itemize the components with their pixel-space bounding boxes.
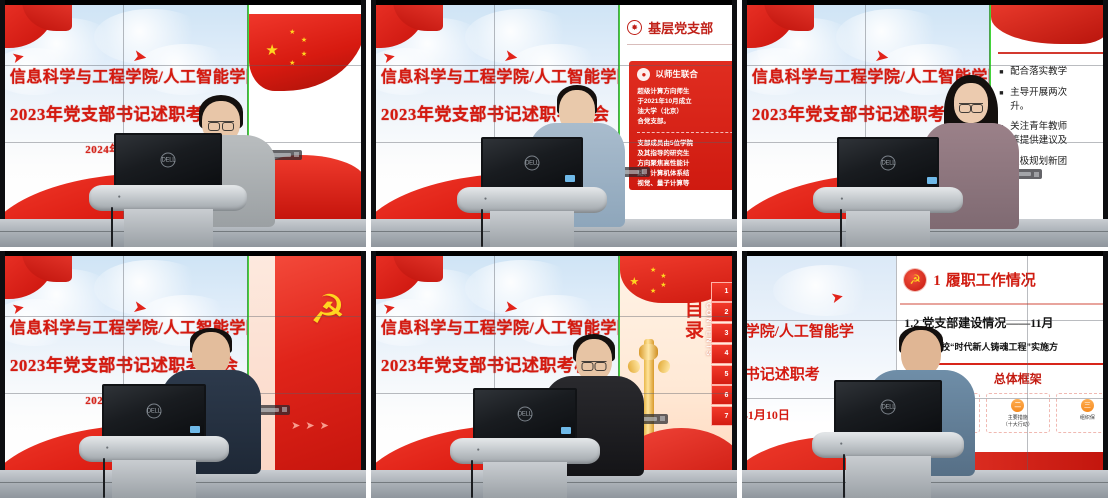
card-paragraph-2: 支部成员由5位学院 及其指导的研究生 方向聚焦高性能计 路、计算机体系结 视觉、… <box>637 139 737 189</box>
photo-panel-3: ➤ 信息科学与工程学院/人工智能学院 2023年党支部书记述职考核会 <box>742 0 1108 247</box>
section-title: 履职工作情况 <box>946 273 1036 289</box>
photo-panel-6: ➤ 程学院/人工智能学 部书记述职考 年1月10日 ☭ 1履职工作情况 <box>742 251 1108 498</box>
handshake-icon: ● <box>637 68 650 81</box>
sticky-note <box>565 175 575 182</box>
dell-logo-icon: DELL <box>161 153 176 168</box>
box-number: 三 <box>1081 399 1094 412</box>
slide-header: 基层党支部 <box>648 18 713 37</box>
glasses <box>582 361 607 368</box>
dell-logo-icon: DELL <box>146 404 161 419</box>
framework-box: 三 组织保 <box>1056 393 1108 433</box>
dell-logo-icon: DELL <box>881 156 896 171</box>
party-seal-icon: ✸ <box>627 20 642 35</box>
flag-stars: ★ ★★ ★★ <box>629 267 676 297</box>
photo-panel-2: ➤ ➤ 信息科学与工程学院/人工智能学院 2023年党支部书记述职考核会 ✸ 基… <box>371 0 737 247</box>
lectern-brand: ● <box>118 194 122 200</box>
section-heading: 1履职工作情况 <box>933 269 1036 290</box>
section-number: 1 <box>933 273 941 289</box>
framework-box: 二 主要措施 （十大行动） <box>986 393 1050 433</box>
photo-panel-1: ➤ ➤ 信息科学与工程学院/人工智能学院 2023年党支部书记述职考核会 202… <box>0 0 366 247</box>
close-icon[interactable] <box>282 407 287 412</box>
lectern: DELL ● <box>79 436 229 498</box>
geese-decor: ➤➤➤ <box>291 419 334 432</box>
photo-grid: ➤ ➤ 信息科学与工程学院/人工智能学院 2023年党支部书记述职考核会 202… <box>0 0 1108 502</box>
party-emblem-icon: ☭ <box>904 269 926 291</box>
side-slide-2: ✸ 基层党支部 ● 以师生联合 超级计算方向师生 于2021年10月成立 油大学… <box>618 5 737 220</box>
bullet-cont: 等提供建议及 <box>1010 134 1108 148</box>
photo-panel-4: ➤ ➤ 信息科学与工程学院/人工智能学院 2023年党支部书记述职考核会 202… <box>0 251 366 498</box>
monitor: DELL <box>837 137 939 189</box>
dell-logo-icon: DELL <box>517 407 532 422</box>
box-label: 主要措施 （十大行动） <box>989 415 1047 428</box>
board-line2: 部书记述职考 <box>742 363 820 384</box>
hammer-sickle-icon: ☭ <box>310 290 346 330</box>
flag-stars: ★★ ★★ ★ <box>265 29 319 72</box>
box-number: 二 <box>1011 399 1024 412</box>
contents-title-cn: 目录 <box>682 299 702 341</box>
close-icon[interactable] <box>294 152 299 157</box>
dell-logo-icon: DELL <box>881 400 896 415</box>
card-paragraph-1: 超级计算方向师生 于2021年10月成立 油大学（北京） 合党支部。 <box>637 87 737 127</box>
monitor: DELL <box>834 380 942 434</box>
lectern: DELL ● <box>812 432 964 498</box>
close-icon[interactable] <box>660 416 665 421</box>
lectern: DELL ● <box>450 438 600 498</box>
party-emblem-slide: ☭ ➤➤➤ <box>249 256 366 471</box>
monitor: DELL <box>114 133 222 187</box>
close-icon[interactable] <box>1034 172 1039 177</box>
card-title: 以师生联合 <box>655 68 698 80</box>
lectern: DELL ● <box>457 187 607 247</box>
branch-slide: ✸ 基层党支部 ● 以师生联合 超级计算方向师生 于2021年10月成立 油大学… <box>620 5 737 220</box>
board-line3: 年1月10日 <box>742 406 790 423</box>
contents-title-en: CONTENTS <box>704 303 711 358</box>
sticky-note <box>190 426 200 433</box>
sticky-note <box>927 177 937 184</box>
close-icon[interactable] <box>642 169 647 174</box>
photo-panel-5: ➤ ➤ 信息科学与工程学院/人工智能学院 2023年党支部书记述职考核会 ★ <box>371 251 737 498</box>
lectern: DELL ● <box>813 187 963 247</box>
glasses <box>208 121 234 128</box>
board-line1: 程学院/人工智能学 <box>742 320 854 341</box>
dell-logo-icon: DELL <box>525 156 540 171</box>
lectern: DELL ● <box>89 185 247 247</box>
glasses <box>959 103 983 110</box>
sticky-note <box>561 427 571 434</box>
box-label: 组织保 <box>1059 415 1108 422</box>
bullet-cont: 升。 <box>1010 100 1108 114</box>
